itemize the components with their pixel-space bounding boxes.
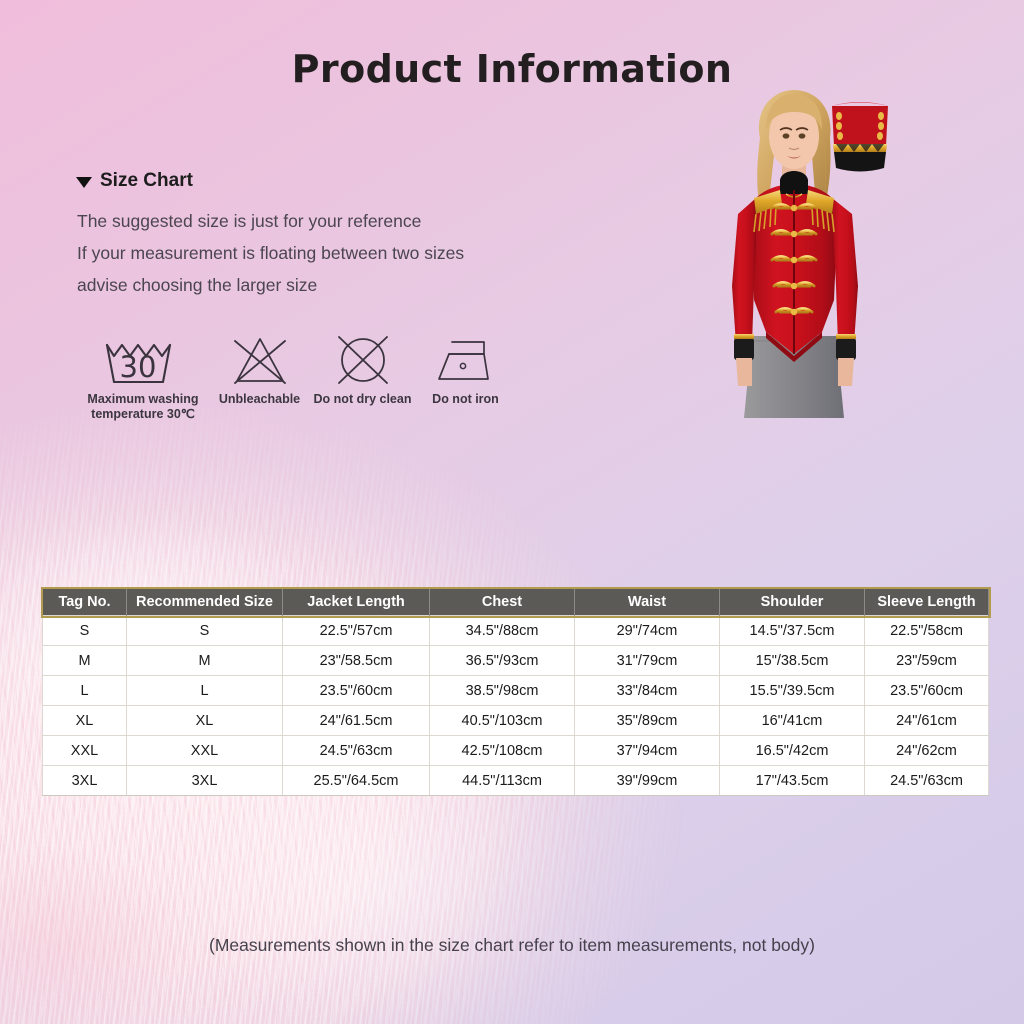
- cell-chest: 44.5"/113cm: [430, 766, 575, 796]
- cell-tag-no: XXL: [43, 736, 127, 766]
- cell-recommended-size: XXL: [127, 736, 283, 766]
- left-sleeve: [732, 198, 756, 344]
- cell-chest: 42.5"/108cm: [430, 736, 575, 766]
- cell-jacket-length: 25.5"/64.5cm: [283, 766, 430, 796]
- table-row: XXL XXL 24.5"/63cm 42.5"/108cm 37"/94cm …: [43, 736, 989, 766]
- cell-recommended-size: M: [127, 646, 283, 676]
- cell-sleeve-length: 24.5"/63cm: [865, 766, 989, 796]
- cell-chest: 36.5"/93cm: [430, 646, 575, 676]
- column-header-waist: Waist: [575, 589, 720, 616]
- cell-waist: 37"/94cm: [575, 736, 720, 766]
- cell-chest: 40.5"/103cm: [430, 706, 575, 736]
- cell-recommended-size: 3XL: [127, 766, 283, 796]
- cell-jacket-length: 24"/61.5cm: [283, 706, 430, 736]
- cell-jacket-length: 23"/58.5cm: [283, 646, 430, 676]
- cell-recommended-size: S: [127, 616, 283, 646]
- size-note-line-2: If your measurement is floating between …: [77, 237, 464, 269]
- size-chart-heading: Size Chart: [76, 170, 193, 192]
- care-item-washing: 30 Maximum washing temperature 30℃: [78, 332, 208, 422]
- shako-hat: [832, 102, 888, 172]
- size-table: Tag No. Recommended Size Jacket Length C…: [42, 589, 989, 796]
- cell-jacket-length: 22.5"/57cm: [283, 616, 430, 646]
- cell-chest: 38.5"/98cm: [430, 676, 575, 706]
- size-chart-heading-label: Size Chart: [100, 170, 193, 192]
- cell-sleeve-length: 24"/61cm: [865, 706, 989, 736]
- care-item-bleach: Unbleachable: [208, 332, 311, 407]
- cell-shoulder: 15.5"/39.5cm: [720, 676, 865, 706]
- cell-sleeve-length: 23"/59cm: [865, 646, 989, 676]
- do-not-iron-icon: [432, 332, 500, 388]
- product-information-page: Product Information Size Chart The sugge…: [0, 0, 1024, 1024]
- cell-tag-no: 3XL: [43, 766, 127, 796]
- measurements-footnote: (Measurements shown in the size chart re…: [0, 935, 1024, 956]
- column-header-shoulder: Shoulder: [720, 589, 865, 616]
- cell-jacket-length: 24.5"/63cm: [283, 736, 430, 766]
- cell-recommended-size: L: [127, 676, 283, 706]
- cell-shoulder: 17"/43.5cm: [720, 766, 865, 796]
- column-header-tag-no: Tag No.: [43, 589, 127, 616]
- cell-waist: 35"/89cm: [575, 706, 720, 736]
- svg-text:30: 30: [120, 350, 157, 384]
- care-label-bleach: Unbleachable: [219, 392, 300, 407]
- cell-sleeve-length: 24"/62cm: [865, 736, 989, 766]
- cell-waist: 31"/79cm: [575, 646, 720, 676]
- triangle-down-icon: [76, 177, 92, 188]
- right-sleeve: [832, 198, 858, 344]
- column-header-chest: Chest: [430, 589, 575, 616]
- cell-shoulder: 16"/41cm: [720, 706, 865, 736]
- care-label-iron: Do not iron: [432, 392, 499, 407]
- cell-waist: 33"/84cm: [575, 676, 720, 706]
- cell-sleeve-length: 22.5"/58cm: [865, 616, 989, 646]
- care-item-dry-clean: Do not dry clean: [311, 332, 414, 407]
- care-label-dry-clean: Do not dry clean: [314, 392, 412, 407]
- size-note-line-1: The suggested size is just for your refe…: [77, 205, 464, 237]
- table-row: L L 23.5"/60cm 38.5"/98cm 33"/84cm 15.5"…: [43, 676, 989, 706]
- cell-chest: 34.5"/88cm: [430, 616, 575, 646]
- cell-shoulder: 16.5"/42cm: [720, 736, 865, 766]
- cell-recommended-size: XL: [127, 706, 283, 736]
- cell-sleeve-length: 23.5"/60cm: [865, 676, 989, 706]
- size-table-container: Tag No. Recommended Size Jacket Length C…: [42, 589, 978, 796]
- cell-shoulder: 15"/38.5cm: [720, 646, 865, 676]
- page-title: Product Information: [0, 47, 1024, 91]
- table-row: M M 23"/58.5cm 36.5"/93cm 31"/79cm 15"/3…: [43, 646, 989, 676]
- product-photo: [694, 86, 894, 418]
- size-note-line-3: advise choosing the larger size: [77, 269, 464, 301]
- cell-tag-no: L: [43, 676, 127, 706]
- care-label-washing: Maximum washing temperature 30℃: [87, 392, 198, 422]
- cell-tag-no: XL: [43, 706, 127, 736]
- column-header-jacket-length: Jacket Length: [283, 589, 430, 616]
- table-row: XL XL 24"/61.5cm 40.5"/103cm 35"/89cm 16…: [43, 706, 989, 736]
- cell-tag-no: S: [43, 616, 127, 646]
- wash-tub-30-icon: 30: [100, 332, 186, 388]
- cell-shoulder: 14.5"/37.5cm: [720, 616, 865, 646]
- care-symbols-row: 30 Maximum washing temperature 30℃ Unble…: [78, 332, 517, 422]
- do-not-dry-clean-icon: [332, 332, 394, 388]
- cell-waist: 29"/74cm: [575, 616, 720, 646]
- do-not-bleach-icon: [229, 332, 291, 388]
- cell-tag-no: M: [43, 646, 127, 676]
- size-table-header-row: Tag No. Recommended Size Jacket Length C…: [43, 589, 989, 616]
- cell-jacket-length: 23.5"/60cm: [283, 676, 430, 706]
- column-header-sleeve-length: Sleeve Length: [865, 589, 989, 616]
- care-item-iron: Do not iron: [414, 332, 517, 407]
- column-header-recommended-size: Recommended Size: [127, 589, 283, 616]
- table-row: S S 22.5"/57cm 34.5"/88cm 29"/74cm 14.5"…: [43, 616, 989, 646]
- cell-waist: 39"/99cm: [575, 766, 720, 796]
- table-row: 3XL 3XL 25.5"/64.5cm 44.5"/113cm 39"/99c…: [43, 766, 989, 796]
- size-chart-notes: The suggested size is just for your refe…: [77, 205, 464, 301]
